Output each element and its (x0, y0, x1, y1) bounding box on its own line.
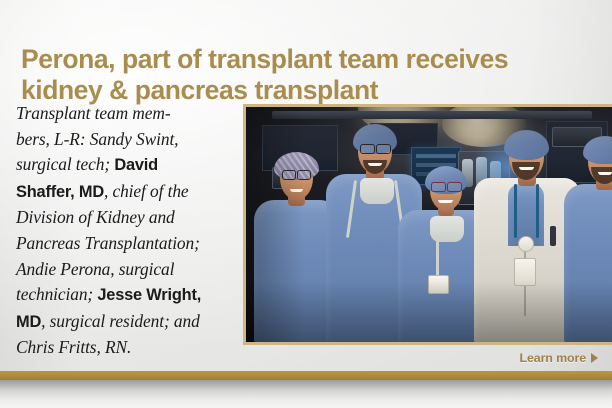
caption-line-10: Chris Fritts, RN. (16, 335, 238, 361)
caption-name-david-2: Shaffer, MD (16, 183, 104, 201)
caption-line-8-text: technician; (16, 284, 97, 304)
p3-mouth (438, 200, 453, 203)
p5-mouth (598, 172, 612, 175)
caption-line-9: MD, surgical resident; and (16, 309, 238, 336)
learn-more-label: Learn more (520, 351, 586, 365)
p5-scrubs (564, 184, 612, 342)
p3-lanyard (436, 234, 439, 278)
photo-caption: Transplant team mem- bers, L-R: Sandy Sw… (16, 101, 238, 361)
caption-line-1: Transplant team mem- (16, 101, 238, 127)
headline-line-1: Perona, part of transplant team receives (21, 44, 599, 75)
caption-line-3-text: surgical tech; (16, 154, 114, 174)
p3-glasses-right (447, 182, 462, 192)
person-chris-fritts (564, 138, 612, 342)
caption-line-6: Pancreas Transplantation; (16, 231, 238, 257)
p4-lanyard-left (514, 184, 517, 238)
caption-line-4-text: , chief of the (104, 181, 189, 201)
p1-glasses-left (282, 170, 296, 180)
p1-mouth (290, 189, 303, 192)
p4-lanyard-right (536, 184, 539, 238)
p3-glasses-left (431, 182, 446, 192)
p1-glasses-right (297, 170, 311, 180)
caption-line-7: Andie Perona, surgical (16, 257, 238, 283)
caption-line-9-text: , surgical resident; and (41, 311, 200, 331)
p2-mask-lowered (360, 178, 394, 204)
p5-surgical-cap (583, 136, 612, 164)
caption-name-jesse-2: MD (16, 313, 41, 331)
triangle-right-icon (591, 353, 598, 363)
learn-more-link[interactable]: Learn more (520, 351, 598, 365)
p4-retractable-reel (518, 236, 534, 252)
caption-line-8: technician; Jesse Wright, (16, 282, 238, 309)
or-ceiling-rail (272, 111, 592, 119)
news-promo-card: Perona, part of transplant team receives… (0, 0, 612, 408)
caption-name-david-1: David (114, 156, 158, 174)
caption-name-jesse-1: Jesse Wright, (97, 286, 201, 304)
photo-frame (243, 104, 612, 345)
p2-glasses-right (376, 144, 391, 154)
p3-id-badge (428, 275, 449, 294)
caption-line-3: surgical tech; David (16, 152, 238, 179)
p2-glasses-left (360, 144, 375, 154)
p4-surgical-cap (504, 130, 549, 160)
p4-coat-pen (550, 226, 556, 246)
p2-mouth (368, 163, 382, 166)
caption-line-2: bers, L-R: Sandy Swint, (16, 127, 238, 153)
footer-strip (0, 380, 612, 408)
caption-line-5: Division of Kidney and (16, 205, 238, 231)
page-title: Perona, part of transplant team receives… (21, 44, 599, 106)
transplant-team-photo (246, 107, 612, 342)
gold-divider-bar (0, 371, 612, 380)
p4-id-badge (514, 258, 536, 286)
p5-beard (591, 167, 612, 184)
caption-line-4: Shaffer, MD, chief of the (16, 179, 238, 206)
p4-mouth (519, 167, 534, 170)
